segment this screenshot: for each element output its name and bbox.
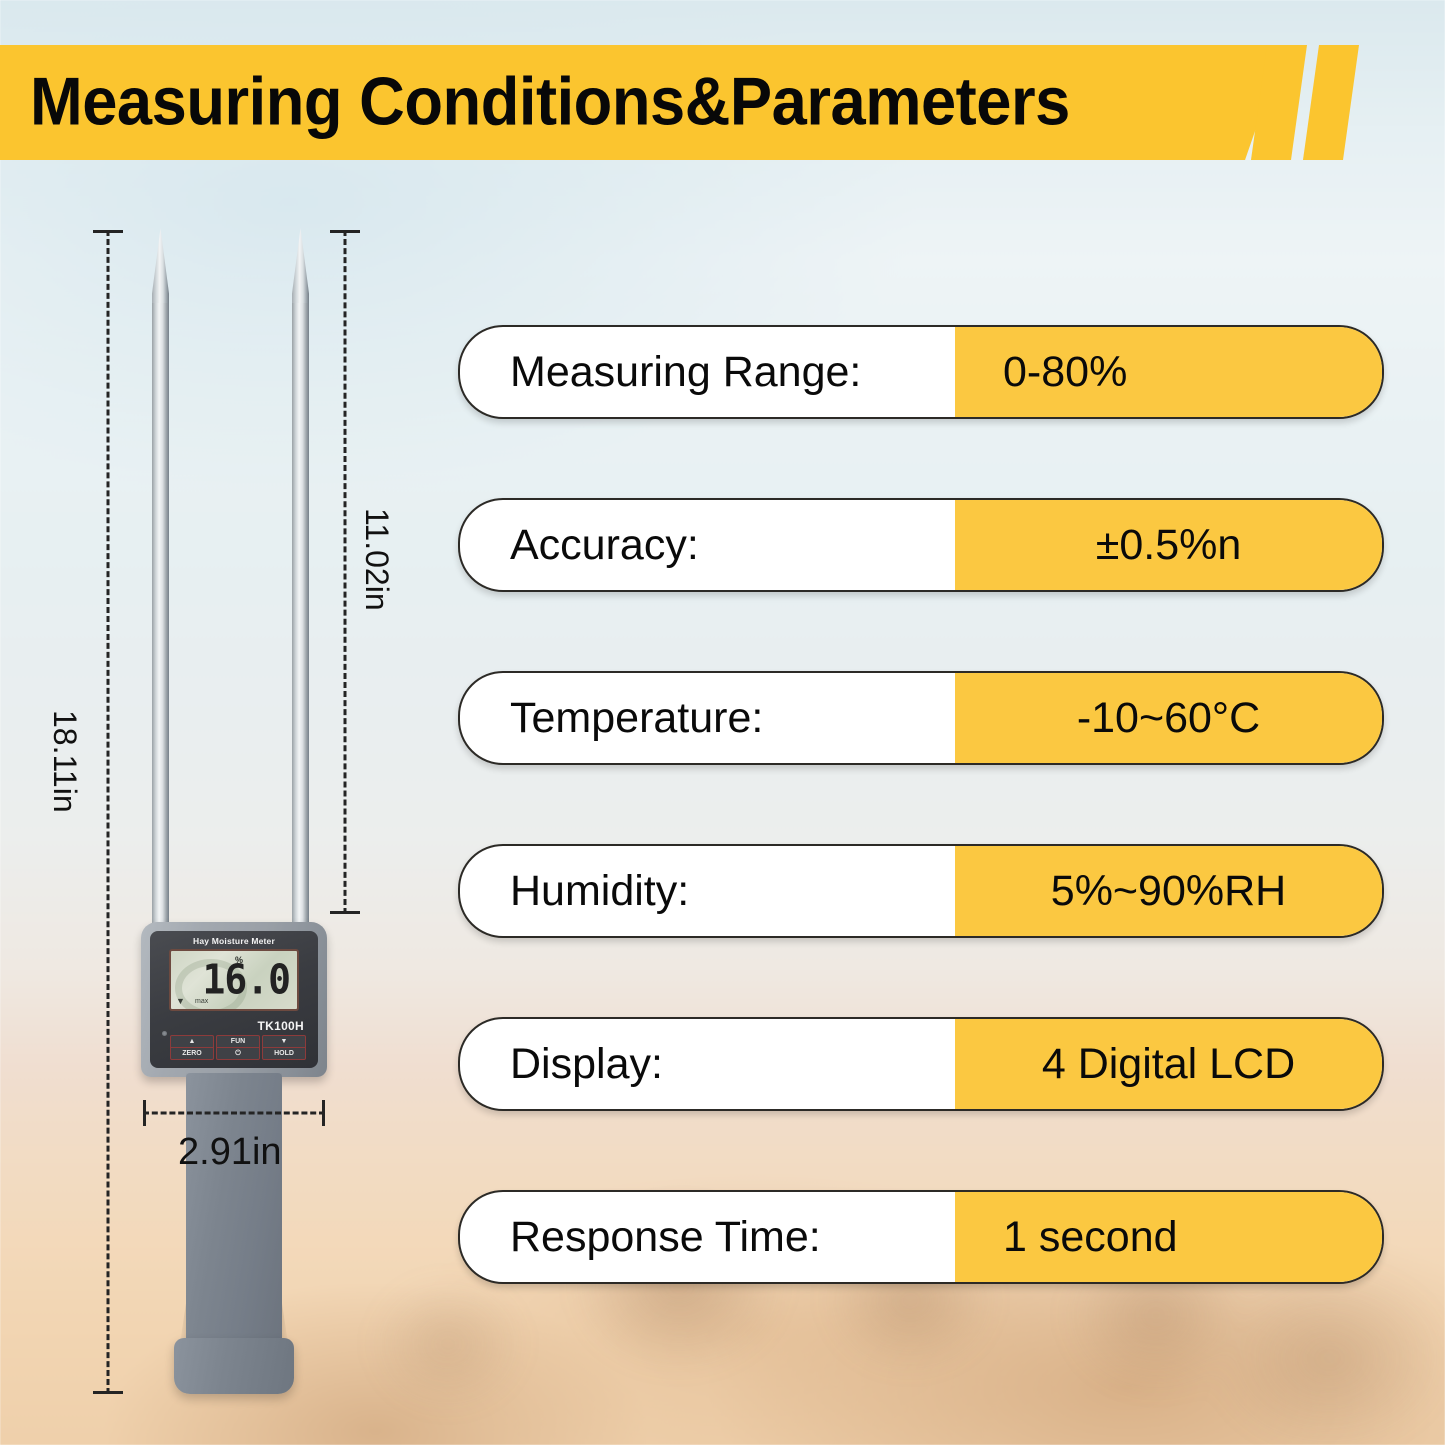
dimension-total-length	[93, 230, 123, 1394]
spec-label: Accuracy:	[460, 521, 955, 570]
dimension-probe-length	[330, 230, 360, 914]
dimension-cap-bottom	[330, 911, 360, 914]
probe-needle-left	[152, 228, 169, 933]
banner-stripe-2	[1303, 45, 1359, 160]
spec-row-accuracy: Accuracy: ±0.5%n	[458, 498, 1384, 592]
spec-value: 1 second	[955, 1192, 1382, 1282]
function-power-button[interactable]: FUN ⏻	[216, 1035, 260, 1060]
dimension-line	[107, 230, 110, 1394]
dimension-width-label: 2.91in	[178, 1131, 282, 1174]
meter-handle-base	[174, 1338, 294, 1394]
button-row: ▲ ZERO FUN ⏻ ▼ HOLD	[170, 1035, 306, 1060]
dimension-total-length-label: 18.11in	[46, 710, 83, 813]
lcd-bezel: % 16.0 ▼ max	[169, 949, 299, 1011]
battery-icon: ▼	[176, 997, 185, 1006]
spec-value: 5%~90%RH	[955, 846, 1382, 936]
meter-faceplate: Hay Moisture Meter % 16.0 ▼ max TK100H ▲…	[150, 931, 318, 1068]
probe-needle-right	[292, 228, 309, 933]
dimension-line	[143, 1112, 325, 1115]
product-illustration: Hay Moisture Meter % 16.0 ▼ max TK100H ▲…	[0, 0, 430, 1445]
dimension-line	[344, 230, 347, 914]
hold-button-label: HOLD	[263, 1048, 305, 1059]
hold-button[interactable]: ▼ HOLD	[262, 1035, 306, 1060]
brand-label: Hay Moisture Meter	[150, 936, 318, 946]
spec-label: Display:	[460, 1040, 955, 1089]
spec-value: 0-80%	[955, 327, 1382, 417]
up-arrow-icon: ▲	[171, 1036, 213, 1048]
dimension-cap-right	[322, 1100, 325, 1126]
spec-row-humidity: Humidity: 5%~90%RH	[458, 844, 1384, 938]
spec-value: ±0.5%n	[955, 500, 1382, 590]
probe-tip-right	[292, 228, 309, 308]
spec-value: 4 Digital LCD	[955, 1019, 1382, 1109]
spec-label: Temperature:	[460, 694, 955, 743]
probe-shaft-left	[152, 303, 169, 933]
spec-row-measuring-range: Measuring Range: 0-80%	[458, 325, 1384, 419]
probe-tip-left	[152, 228, 169, 308]
spec-row-response-time: Response Time: 1 second	[458, 1190, 1384, 1284]
dimension-width	[143, 1100, 325, 1126]
model-label: TK100H	[258, 1019, 304, 1033]
spec-row-display: Display: 4 Digital LCD	[458, 1017, 1384, 1111]
dimension-probe-length-label: 11.02in	[358, 508, 395, 611]
spec-row-temperature: Temperature: -10~60°C	[458, 671, 1384, 765]
spec-value: -10~60°C	[955, 673, 1382, 763]
down-arrow-icon: ▼	[263, 1036, 305, 1048]
lcd-screen: % 16.0 ▼ max	[171, 951, 297, 1009]
spec-label: Measuring Range:	[460, 348, 955, 397]
spec-label: Response Time:	[460, 1213, 955, 1262]
lcd-reading: 16.0	[202, 959, 290, 1000]
probe-shaft-right	[292, 303, 309, 933]
spec-label: Humidity:	[460, 867, 955, 916]
lcd-max-label: max	[195, 998, 208, 1005]
function-button-label: FUN	[217, 1036, 259, 1048]
spec-list: Measuring Range: 0-80% Accuracy: ±0.5%n …	[458, 325, 1384, 1284]
indicator-led	[162, 1031, 167, 1036]
power-icon: ⏻	[217, 1048, 259, 1059]
zero-button-label: ZERO	[171, 1048, 213, 1059]
zero-button[interactable]: ▲ ZERO	[170, 1035, 214, 1060]
meter-body: Hay Moisture Meter % 16.0 ▼ max TK100H ▲…	[141, 922, 327, 1077]
dimension-cap-bottom	[93, 1391, 123, 1394]
